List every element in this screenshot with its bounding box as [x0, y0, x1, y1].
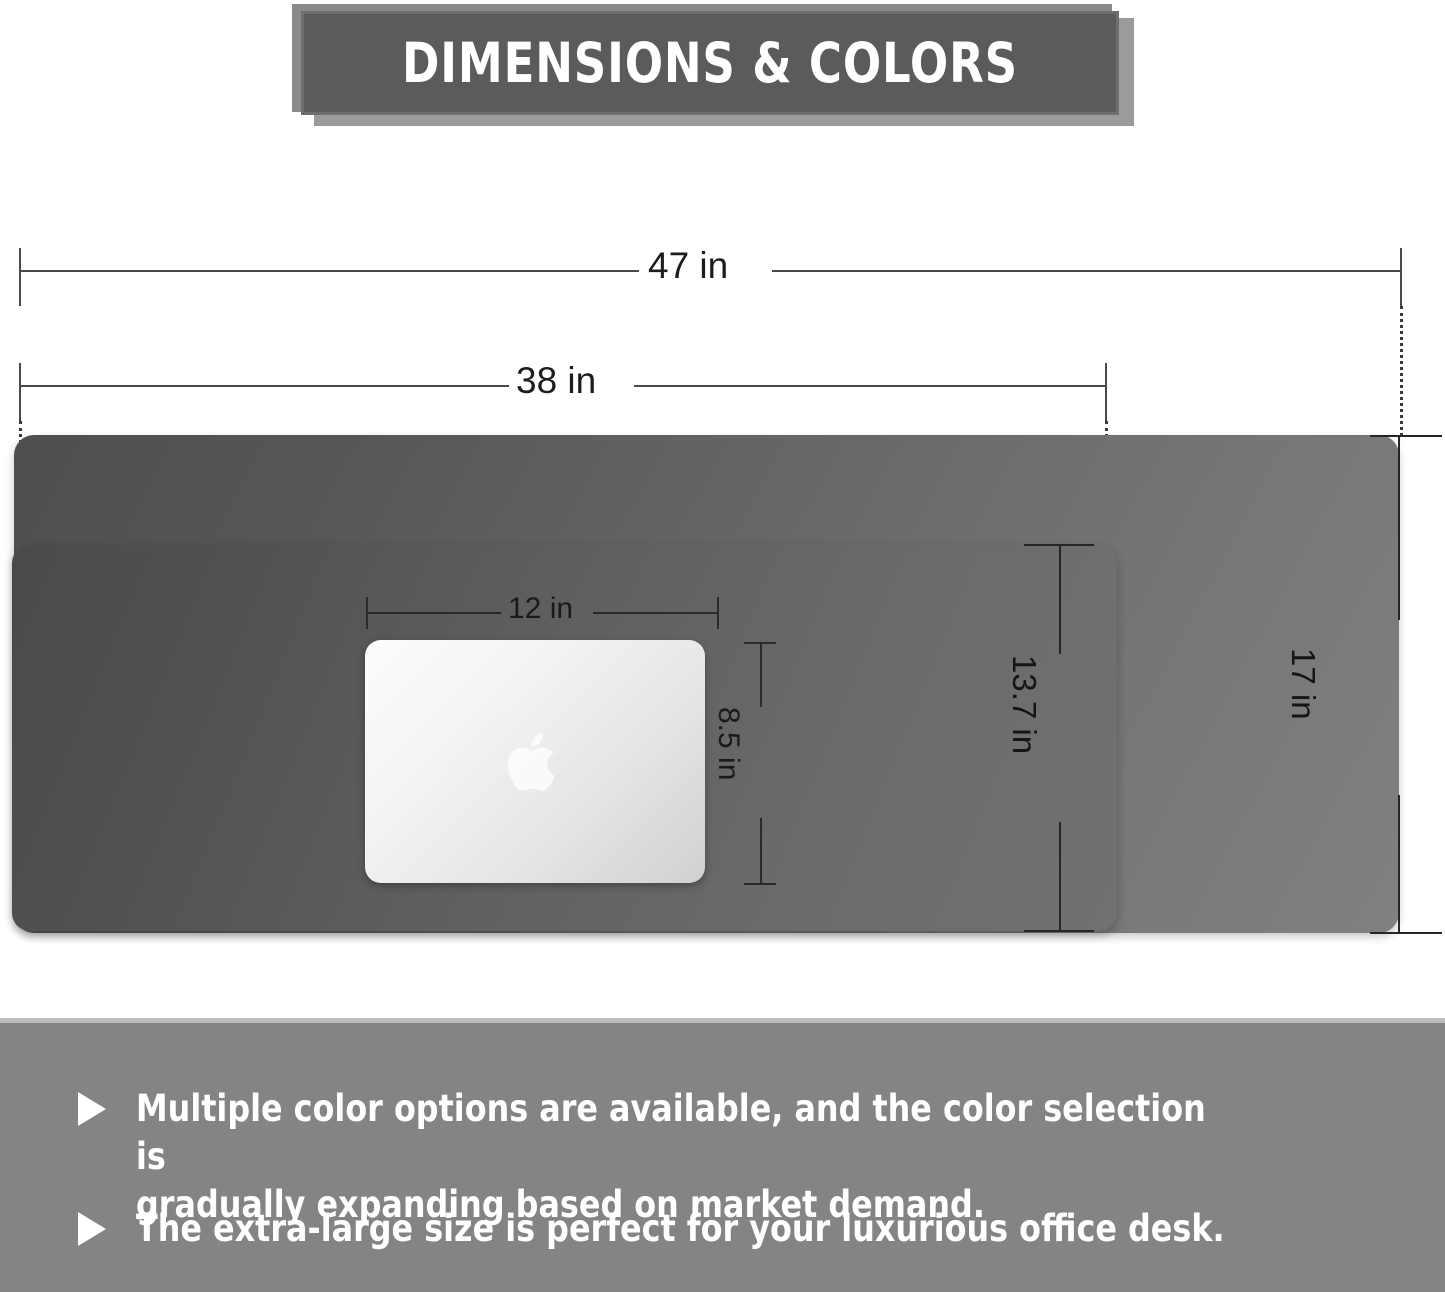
- dim-label-17: 17 in: [1284, 648, 1322, 720]
- dim-label-38: 38 in: [516, 360, 596, 402]
- tick-47-right: [1400, 248, 1402, 306]
- dim-label-12: 12 in: [508, 592, 573, 626]
- dim-line-137-bottom: [1059, 822, 1061, 932]
- dim-line-38-right: [634, 385, 1106, 387]
- dim-label-47: 47 in: [648, 245, 728, 287]
- tick-17-top: [1370, 435, 1442, 437]
- tick-47-left: [19, 248, 21, 306]
- tick-17-bottom: [1370, 932, 1442, 934]
- feature-item-2: The extra-large size is perfect for your…: [78, 1205, 1408, 1253]
- tick-38-left: [19, 363, 21, 421]
- laptop-device: [365, 640, 705, 883]
- dim-line-38-left: [19, 385, 509, 387]
- features-panel: Multiple color options are available, an…: [0, 1018, 1445, 1292]
- dim-label-137: 13.7 in: [1005, 655, 1043, 754]
- apple-logo-icon: [507, 729, 563, 795]
- feature-text-2: The extra-large size is perfect for your…: [136, 1205, 1225, 1253]
- page-title: DIMENSIONS & COLORS: [375, 11, 1046, 115]
- dim-line-47-right: [772, 270, 1401, 272]
- dim-line-12-left: [366, 612, 501, 614]
- header-banner: DIMENSIONS & COLORS: [292, 4, 1137, 126]
- dim-label-85: 8.5 in: [711, 707, 745, 780]
- dim-line-12-right: [593, 612, 718, 614]
- dim-line-47-left: [19, 270, 639, 272]
- triangle-right-icon: [78, 1092, 106, 1126]
- tick-38-right: [1105, 363, 1107, 421]
- dim-line-137-top: [1059, 544, 1061, 654]
- triangle-right-icon: [78, 1212, 106, 1246]
- dim-line-85-top: [760, 642, 762, 707]
- guide-line-right-47: [1400, 306, 1403, 436]
- infographic-page: DIMENSIONS & COLORS 47 in 38 in 12 in 8.…: [0, 0, 1445, 1292]
- dim-line-85-bottom: [760, 818, 762, 884]
- dim-line-17-bottom: [1398, 795, 1400, 933]
- dim-line-17-top: [1398, 435, 1400, 620]
